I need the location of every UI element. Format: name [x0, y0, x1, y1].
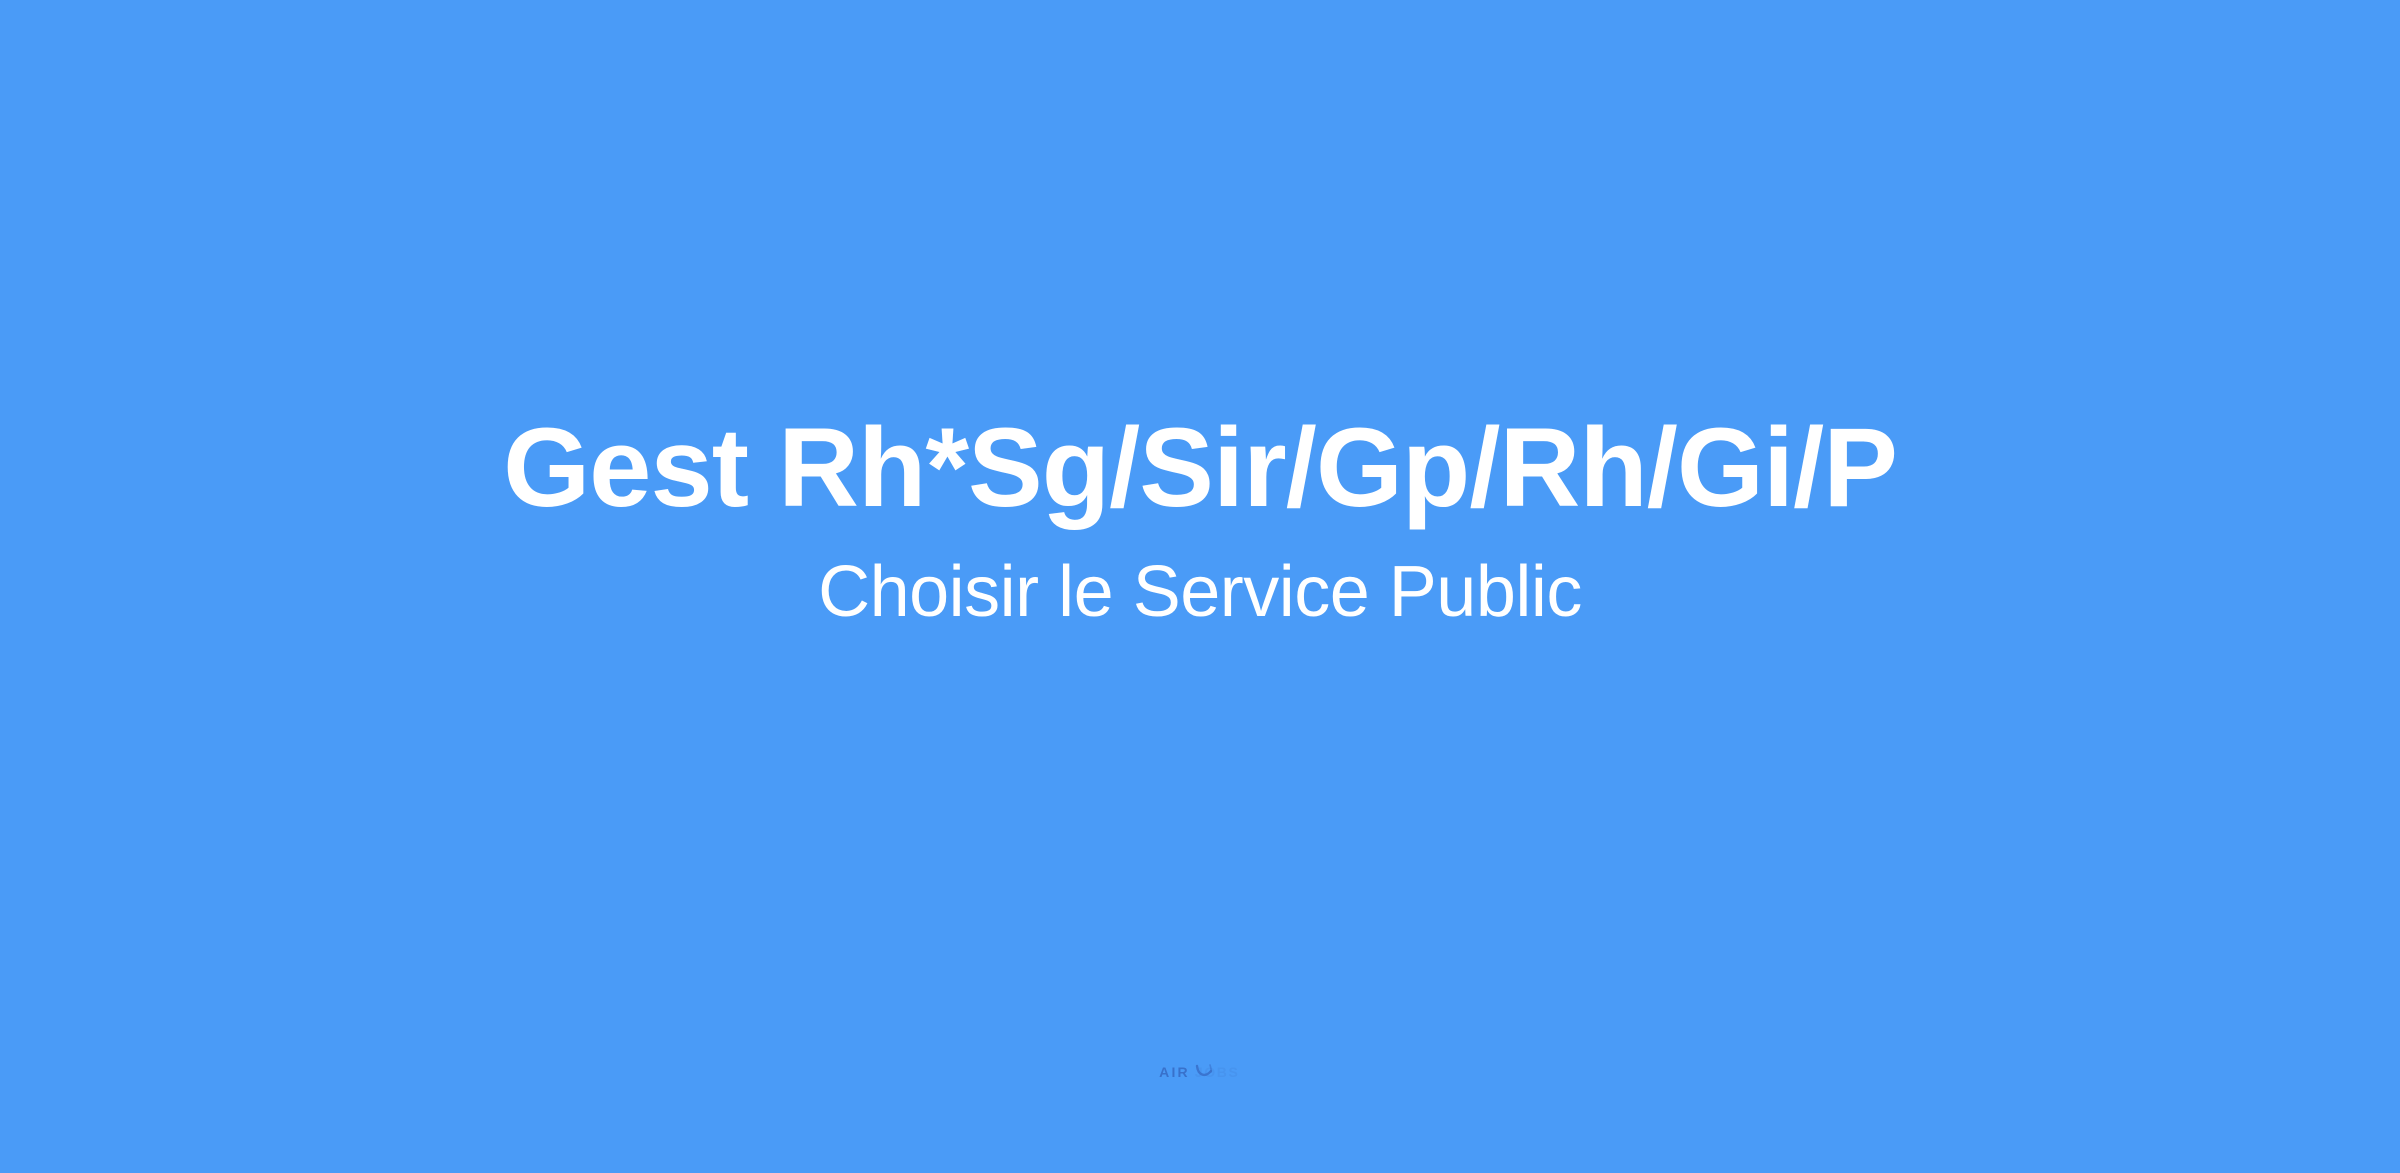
splash-screen: Gest Rh*Sg/Sir/Gp/Rh/Gi/P Choisir le Ser… [0, 0, 2400, 1173]
brand-watermark-mark: JOBS [1195, 1062, 1241, 1082]
page-title: Gest Rh*Sg/Sir/Gp/Rh/Gi/P [0, 412, 2400, 524]
swoosh-icon [1195, 1062, 1214, 1082]
page-subtitle: Choisir le Service Public [0, 556, 2400, 628]
brand-watermark-primary-text: AIR [1159, 1065, 1190, 1079]
brand-watermark-logo[interactable]: AIR JOBS [0, 1058, 2400, 1086]
